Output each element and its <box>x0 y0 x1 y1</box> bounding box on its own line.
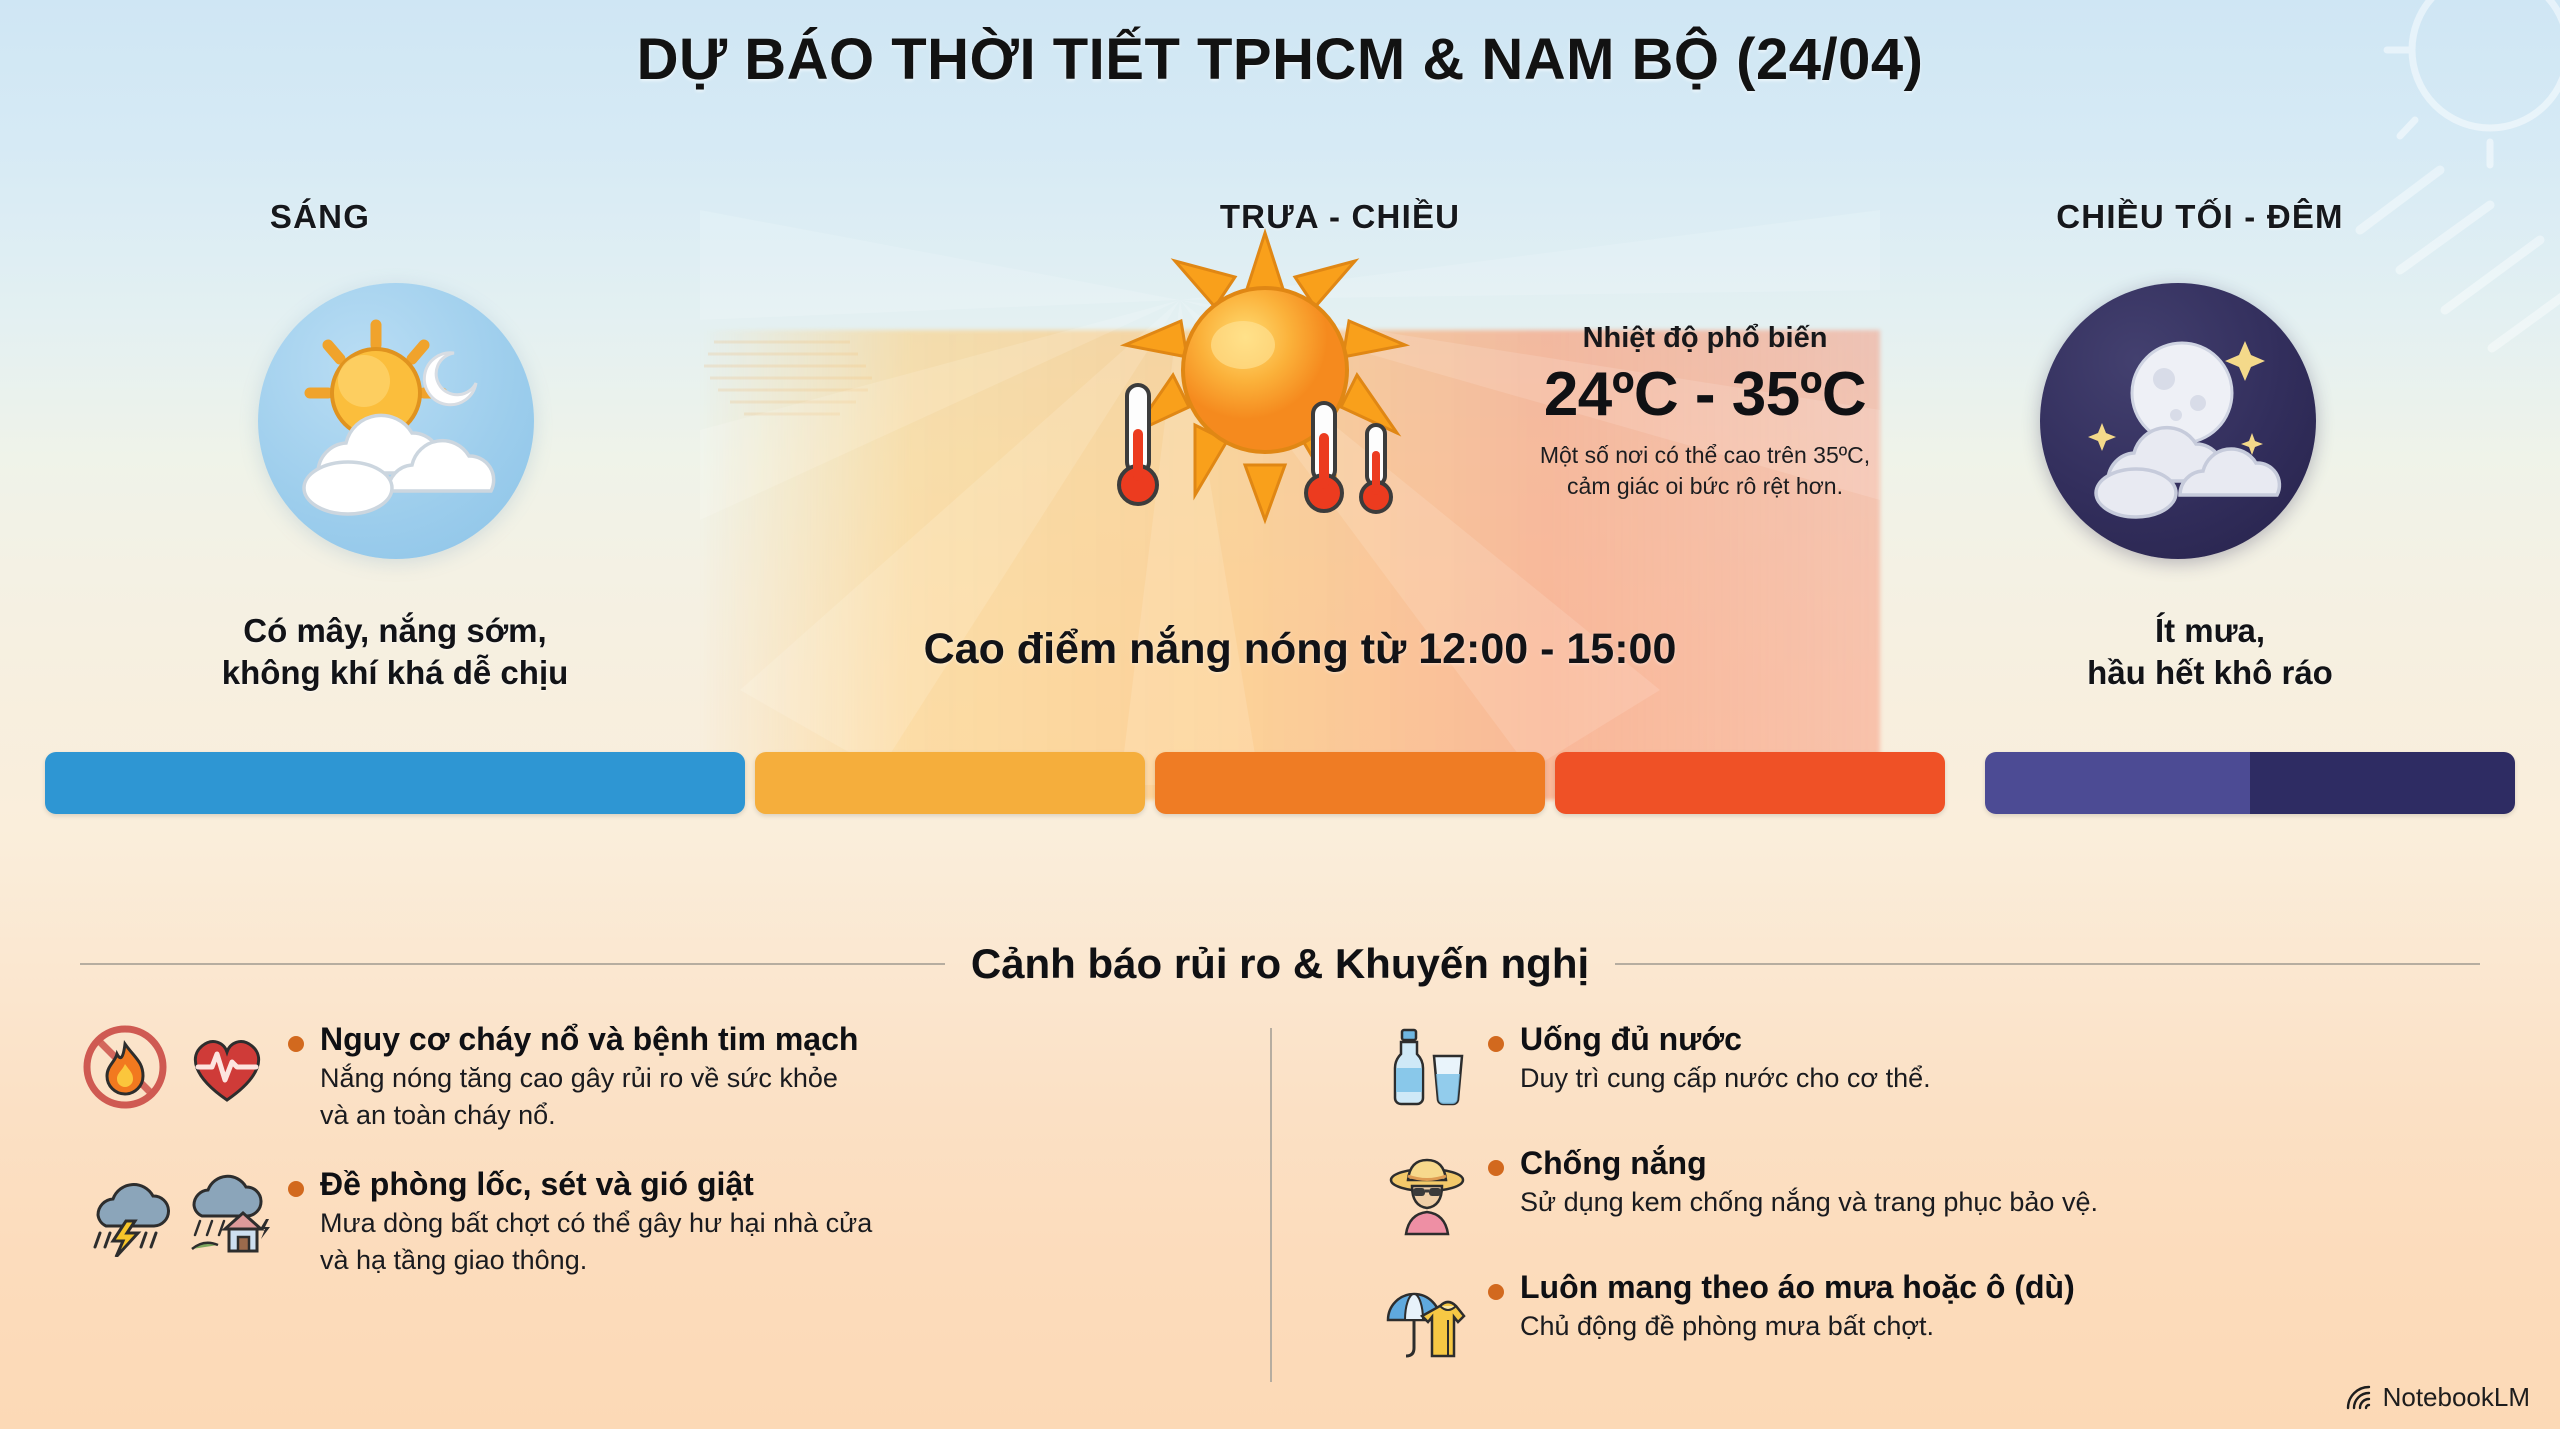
recommendation-title: Uống đủ nước <box>1520 1020 2462 1059</box>
advice-columns: Nguy cơ cháy nổ và bệnh tim mạch Nắng nó… <box>80 1020 2480 1390</box>
watermark: NotebookLM <box>2344 1382 2530 1413</box>
page-title: DỰ BÁO THỜI TIẾT TPHCM & NAM BỘ (24/04) <box>0 26 2560 93</box>
warnings-column: Nguy cơ cháy nổ và bệnh tim mạch Nắng nó… <box>80 1020 1270 1390</box>
temperature-label: Nhiệt độ phổ biến <box>1455 322 1955 355</box>
night-description-line1: Ít mưa, <box>1980 610 2440 652</box>
recommendation-title: Luôn mang theo áo mưa hoặc ô (dù) <box>1520 1268 2462 1307</box>
recommendation-text: Uống đủ nước Duy trì cung cấp nước cho c… <box>1520 1020 2462 1096</box>
warning-title: Nguy cơ cháy nổ và bệnh tim mạch <box>320 1020 1230 1059</box>
moon-behind-cloud-icon <box>2040 283 2316 559</box>
recommendations-column: Uống đủ nước Duy trì cung cấp nước cho c… <box>1272 1020 2462 1390</box>
temperature-block: Nhiệt độ phổ biến 24ºC - 35ºC Một số nơi… <box>1455 322 1955 501</box>
morning-icon-circle <box>258 283 534 559</box>
night-icon-circle <box>2040 283 2316 559</box>
bullet-dot <box>288 1181 304 1197</box>
bullet-dot <box>288 1036 304 1052</box>
bar-evening <box>1985 752 2250 814</box>
section-title: Cảnh báo rủi ro & Khuyến nghị <box>971 940 1589 988</box>
warning-item: Đề phòng lốc, sét và gió giật Mưa dòng b… <box>80 1165 1230 1278</box>
recommendation-item: Luôn mang theo áo mưa hoặc ô (dù) Chủ độ… <box>1382 1268 2462 1360</box>
notebooklm-logo-icon <box>2344 1383 2374 1413</box>
bullet-dot <box>1488 1036 1504 1052</box>
thunderstorm-icon <box>80 1167 170 1257</box>
watermark-label: NotebookLM <box>2383 1382 2530 1413</box>
bullet-dot <box>1488 1160 1504 1176</box>
section-heading: Cảnh báo rủi ro & Khuyến nghị <box>80 940 2480 988</box>
morning-description-line1: Có mây, nắng sớm, <box>120 610 670 652</box>
sun-hat-person-icon <box>1382 1146 1472 1236</box>
recommendation-text: Chống nắng Sử dụng kem chống nắng và tra… <box>1520 1144 2462 1220</box>
rain-house-icon <box>182 1167 272 1257</box>
water-bottle-glass-icon <box>1382 1022 1472 1112</box>
recommendation-icons <box>1382 1268 1472 1360</box>
warning-icons <box>80 1020 272 1112</box>
recommendation-desc: Sử dụng kem chống nắng và trang phục bảo… <box>1520 1185 2462 1220</box>
sun-with-thermometers-icon <box>1105 225 1425 565</box>
recommendation-title: Chống nắng <box>1520 1144 2462 1183</box>
bar-very-hot <box>1555 752 1945 814</box>
recommendation-icons <box>1382 1020 1472 1112</box>
warning-item: Nguy cơ cháy nổ và bệnh tim mạch Nắng nó… <box>80 1020 1230 1133</box>
recommendation-icons <box>1382 1144 1472 1236</box>
warning-text: Đề phòng lốc, sét và gió giật Mưa dòng b… <box>320 1165 1230 1278</box>
night-description-line2: hầu hết khô ráo <box>1980 652 2440 694</box>
bar-night-group <box>1985 752 2515 814</box>
temperature-range: 24ºC - 35ºC <box>1455 359 1955 430</box>
section-rule-right <box>1615 963 2480 965</box>
temperature-scale-bars <box>0 752 2560 814</box>
infographic-canvas: DỰ BÁO THỜI TIẾT TPHCM & NAM BỘ (24/04) … <box>0 0 2560 1429</box>
warning-icons <box>80 1165 272 1257</box>
recommendation-text: Luôn mang theo áo mưa hoặc ô (dù) Chủ độ… <box>1520 1268 2462 1344</box>
warning-desc-line2: và an toàn cháy nổ. <box>320 1098 1230 1133</box>
morning-description: Có mây, nắng sớm, không khí khá dễ chịu <box>120 610 670 694</box>
heart-pulse-icon <box>182 1022 272 1112</box>
night-description: Ít mưa, hầu hết khô ráo <box>1980 610 2440 694</box>
noon-icon-group <box>1105 225 1425 565</box>
recommendation-desc: Chủ động đề phòng mưa bất chợt. <box>1520 1309 2462 1344</box>
bullet-dot <box>1488 1284 1504 1300</box>
warning-title: Đề phòng lốc, sét và gió giật <box>320 1165 1230 1204</box>
bar-night <box>2250 752 2515 814</box>
bar-warm <box>755 752 1145 814</box>
sun-behind-cloud-with-moon-icon <box>258 283 534 559</box>
hatch-decoration <box>700 320 900 440</box>
temperature-note-line2: cảm giác oi bức rô rệt hơn. <box>1455 471 1955 502</box>
period-header-morning: SÁNG <box>120 198 520 236</box>
warning-desc-line1: Mưa dòng bất chợt có thể gây hư hại nhà … <box>320 1206 1230 1241</box>
bar-hot <box>1155 752 1545 814</box>
noon-banner: Cao điểm nắng nóng từ 12:00 - 15:00 <box>820 625 1780 674</box>
recommendation-item: Chống nắng Sử dụng kem chống nắng và tra… <box>1382 1144 2462 1236</box>
no-fire-icon <box>80 1022 170 1112</box>
recommendation-item: Uống đủ nước Duy trì cung cấp nước cho c… <box>1382 1020 2462 1112</box>
warning-text: Nguy cơ cháy nổ và bệnh tim mạch Nắng nó… <box>320 1020 1230 1133</box>
bar-morning-cool <box>45 752 745 814</box>
temperature-note-line1: Một số nơi có thể cao trên 35ºC, <box>1455 440 1955 471</box>
umbrella-raincoat-icon <box>1382 1270 1472 1360</box>
period-header-night: CHIỀU TỐI - ĐÊM <box>1940 198 2460 236</box>
warning-desc-line1: Nắng nóng tăng cao gây rủi ro về sức khỏ… <box>320 1061 1230 1096</box>
recommendation-desc: Duy trì cung cấp nước cho cơ thể. <box>1520 1061 2462 1096</box>
warning-desc-line2: và hạ tầng giao thông. <box>320 1243 1230 1278</box>
section-rule-left <box>80 963 945 965</box>
morning-description-line2: không khí khá dễ chịu <box>120 652 670 694</box>
